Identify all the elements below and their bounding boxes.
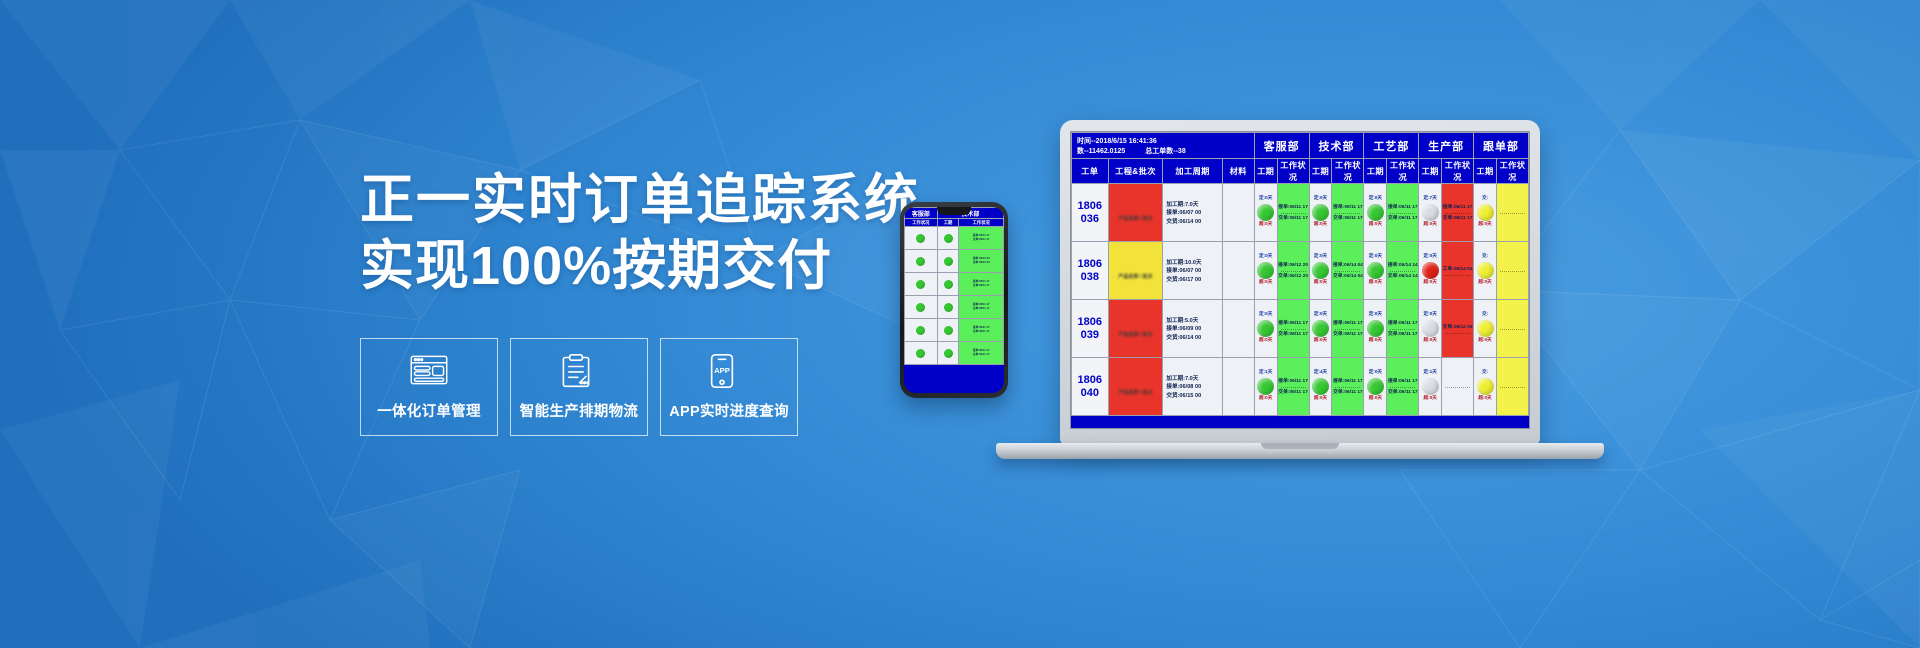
duration-cell-工艺部: 定:0天超:0天: [1364, 184, 1387, 242]
col-header-跟单部-工作状况: 工作状况: [1496, 159, 1528, 184]
status-line-2: 交单:06/11 17: [1442, 215, 1473, 223]
duration-cell-生产部: 定:0天超:0天: [1419, 300, 1442, 358]
duration-left: 定:0天: [1310, 195, 1332, 204]
cycle-text: 加工期:10.0天: [1166, 259, 1219, 268]
status-line-2: 交单:06/14 14: [1387, 273, 1418, 281]
col-header-生产部-工期: 工期: [1419, 159, 1442, 184]
duration-over: 超:0天: [1364, 395, 1386, 404]
phone-col-header-1: 工期: [937, 219, 959, 227]
duration-left: 定:0天: [1364, 369, 1386, 378]
duration-over: 超:0天: [1255, 337, 1277, 346]
status-indicator: [944, 349, 953, 358]
status-line-2: 交单:06/11 17: [1387, 331, 1418, 339]
headline-line-2: 实现100%按期交付: [360, 234, 920, 300]
headline-line-1: 正一实时订单追踪系统: [360, 168, 920, 234]
phone-order-table[interactable]: 客服部技术部工作状况工期工作状况接单:06/11 17交单:06/11 17接单…: [904, 207, 1004, 365]
status-indicator: [944, 234, 953, 243]
product-batch-cell[interactable]: 产品名称 / 批次: [1108, 184, 1163, 242]
duration-left: 定:0天: [1255, 195, 1277, 204]
cycle-text: 加工期:7.0天: [1166, 375, 1219, 384]
status-line-1: 接单:06/11 17: [1278, 320, 1309, 328]
phone-duration-cell: [937, 342, 959, 365]
dept-header-技术部: 技术部: [1309, 133, 1364, 159]
phone-table-row[interactable]: 接单:06/11 17交单:06/11 17: [905, 227, 1004, 250]
meta-time: 时间--2018/6/15 16:41:36: [1075, 136, 1159, 146]
work-status-cell-生产部[interactable]: [1442, 358, 1474, 416]
processing-period-cell: 加工期:7.0天接单:06/08 00交货:06/15 00: [1163, 358, 1222, 416]
status-indicator: [1367, 378, 1384, 395]
status-indicator: [1367, 204, 1384, 221]
duration-cell-客服部: 定:0天超:0天: [1254, 184, 1277, 242]
laptop-base: [996, 443, 1604, 459]
received-text: 接单:06/07 00: [1166, 209, 1219, 218]
laptop-lid: 时间--2018/6/15 16:41:36数--11462.0125总工单数-…: [1060, 120, 1540, 444]
phone-table-row[interactable]: 接单:06/11 17交单:06/11 17: [905, 319, 1004, 342]
status-indicator: [1477, 320, 1494, 337]
phone-screen[interactable]: 客服部技术部工作状况工期工作状况接单:06/11 17交单:06/11 17接单…: [904, 207, 1004, 393]
work-status-cell-客服部[interactable]: 接单:06/11 17交单:06/11 17: [1277, 358, 1309, 416]
status-line-2: 交单:06/11 17: [1387, 389, 1418, 397]
phone-work-status-cell[interactable]: 接单:06/11 17交单:06/11 17: [959, 273, 1004, 296]
status-indicator: [944, 280, 953, 289]
duration-cell-工艺部: 定:0天超:0天: [1364, 242, 1387, 300]
duration-over: 超:0天: [1364, 337, 1386, 346]
status-line-2: 交单:06/14 04: [1332, 273, 1363, 281]
phone-body: 客服部技术部工作状况工期工作状况接单:06/11 17交单:06/11 17接单…: [900, 202, 1008, 398]
duration-over: 超:0天: [1310, 337, 1332, 346]
product-batch-text: 产品名称 / 批次: [1109, 318, 1163, 340]
status-line-2: 交单:06/11 17: [959, 238, 1003, 242]
phone-work-status-cell[interactable]: 接单:06/11 17交单:06/11 17: [959, 296, 1004, 319]
status-indicator: [1312, 204, 1329, 221]
status-indicator: [916, 234, 925, 243]
work-status-cell-工艺部[interactable]: 接单:06/14 14交单:06/14 14: [1387, 242, 1419, 300]
cycle-text: 加工期:7.0天: [1166, 201, 1219, 210]
status-line-2: 交单:06/11 17: [1387, 215, 1418, 223]
status-indicator: [916, 303, 925, 312]
work-status-cell-生产部[interactable]: 接单:06/11 17交单:06/11 17: [1442, 184, 1474, 242]
duration-left: 定:0天: [1310, 253, 1332, 262]
duration-left: 定:0天: [1255, 311, 1277, 320]
status-indicator: [1367, 320, 1384, 337]
meta-count: 数--11462.0125: [1075, 146, 1127, 156]
order-number[interactable]: 1806039: [1072, 300, 1109, 358]
phone-duration-cell: [937, 227, 959, 250]
duration-over: 超:0天: [1474, 395, 1496, 404]
status-line-2: 交单:06/11 17: [1332, 331, 1363, 339]
duration-over: 超:0天: [1255, 221, 1277, 230]
phone-status-dot-cell: [905, 342, 938, 365]
duration-over: 超:0天: [1419, 395, 1441, 404]
status-line-1: 接单:06/12 20: [1278, 262, 1309, 270]
product-batch-text: 产品名称 / 批次: [1109, 260, 1163, 282]
feature-list: 一体化订单管理 智能生产排期物流: [360, 338, 920, 436]
product-batch-text: 产品名称 / 批次: [1109, 202, 1163, 224]
work-status-cell-技术部[interactable]: 接单:06/11 17交单:06/11 17: [1332, 184, 1364, 242]
phone-work-status-cell[interactable]: 接单:06/11 17交单:06/11 17: [959, 227, 1004, 250]
status-indicator: [1312, 262, 1329, 279]
feature-card-smart-scheduling[interactable]: 智能生产排期物流: [510, 338, 648, 436]
order-number-bottom: 036: [1072, 213, 1108, 226]
duration-cell-跟单部: 交:超:0天: [1474, 300, 1497, 358]
table-row[interactable]: 1806039产品名称 / 批次加工期:5.0天接单:06/09 00交货:06…: [1072, 300, 1529, 358]
duration-left: 定:0天: [1364, 311, 1386, 320]
col-header-客服部-工作状况: 工作状况: [1277, 159, 1309, 184]
status-indicator: [916, 257, 925, 266]
phone-notch: [937, 207, 971, 215]
processing-period-cell: 加工期:5.0天接单:06/09 00交货:06/14 00: [1163, 300, 1222, 358]
order-number[interactable]: 1806040: [1072, 358, 1109, 416]
duration-cell-工艺部: 定:0天超:0天: [1364, 300, 1387, 358]
duration-over: 超:0天: [1474, 337, 1496, 346]
table-row[interactable]: 1806040产品名称 / 批次加工期:7.0天接单:06/08 00交货:06…: [1072, 358, 1529, 416]
feature-card-order-management[interactable]: 一体化订单管理: [360, 338, 498, 436]
duration-over: 超:0天: [1364, 221, 1386, 230]
status-line-2: 交单:06/11 17: [959, 330, 1003, 334]
duration-cell-技术部: 定:0天超:0天: [1309, 242, 1332, 300]
status-line-1: 接单:06/14 14: [1387, 262, 1418, 270]
order-number-top: 1806: [1072, 374, 1108, 387]
status-line-1: 接单:06/11 17: [1387, 378, 1418, 386]
delivery-text: 交货:06/14 00: [1166, 334, 1219, 343]
phone-status-dot-cell: [905, 250, 938, 273]
status-indicator: [1422, 262, 1439, 279]
feature-card-app-tracking[interactable]: APP APP实时进度查询: [660, 338, 798, 436]
product-batch-cell[interactable]: 产品名称 / 批次: [1108, 242, 1163, 300]
duration-cell-客服部: 定:1天超:0天: [1254, 358, 1277, 416]
duration-over: 超:0天: [1255, 395, 1277, 404]
delivery-text: 交货:06/14 00: [1166, 218, 1219, 227]
status-indicator: [1257, 262, 1274, 279]
phone-duration-cell: [937, 273, 959, 296]
table-row[interactable]: 1806038产品名称 / 批次加工期:10.0天接单:06/07 00交货:0…: [1072, 242, 1529, 300]
phone-status-dot-cell: [905, 296, 938, 319]
work-status-cell-跟单部[interactable]: [1496, 358, 1528, 416]
order-number-bottom: 038: [1072, 271, 1108, 284]
duration-left: 定:7天: [1419, 195, 1441, 204]
duration-left: 定:0天: [1255, 253, 1277, 262]
status-line-1: 接单:06/11 17: [1387, 204, 1418, 212]
duration-left: 定:1天: [1255, 369, 1277, 378]
delivery-text: 交货:06/17 00: [1166, 276, 1219, 285]
order-number-top: 1806: [1072, 258, 1108, 271]
duration-cell-工艺部: 定:0天超:0天: [1364, 358, 1387, 416]
status-indicator: [944, 326, 953, 335]
col-header-工程&批次: 工程&批次: [1108, 159, 1163, 184]
duration-over: 超:0天: [1474, 221, 1496, 230]
dept-header-客服部: 客服部: [1254, 133, 1309, 159]
phone-duration-cell: [937, 250, 959, 273]
processing-period-cell: 加工期:10.0天接单:06/07 00交货:06/17 00: [1163, 242, 1222, 300]
clipboard-checklist-icon: [559, 353, 599, 391]
phone-col-header-0: 工作状况: [905, 219, 938, 227]
phone-duration-cell: [937, 319, 959, 342]
app-badge-text: APP: [714, 366, 730, 375]
status-line-1: 接单:06/11 17: [1332, 204, 1363, 212]
phone-table-row[interactable]: 接单:06/12 20交单:06/12 20: [905, 250, 1004, 273]
received-text: 接单:06/09 00: [1166, 325, 1219, 334]
col-header-加工周期: 加工周期: [1163, 159, 1222, 184]
phone-mockup: 客服部技术部工作状况工期工作状况接单:06/11 17交单:06/11 17接单…: [900, 202, 1008, 398]
dept-header-工艺部: 工艺部: [1364, 133, 1419, 159]
duration-over: 超:0天: [1255, 279, 1277, 288]
order-number[interactable]: 1806036: [1072, 184, 1109, 242]
dept-header-生产部: 生产部: [1419, 133, 1474, 159]
work-status-cell-工艺部[interactable]: 接单:06/11 17交单:06/11 17: [1387, 358, 1419, 416]
status-line-1: 接单:06/14 04: [1332, 262, 1363, 270]
product-batch-cell[interactable]: 产品名称 / 批次: [1108, 358, 1163, 416]
duration-left: 交:: [1474, 195, 1496, 204]
received-text: 接单:06/07 00: [1166, 267, 1219, 276]
col-header-技术部-工期: 工期: [1309, 159, 1332, 184]
status-indicator: [1477, 262, 1494, 279]
work-status-cell-跟单部[interactable]: [1496, 184, 1528, 242]
work-status-cell-生产部[interactable]: 工单:06/14 04: [1442, 242, 1474, 300]
status-line-1: 接单:06/11 17: [1442, 204, 1473, 212]
order-tracking-table[interactable]: 时间--2018/6/15 16:41:36数--11462.0125总工单数-…: [1071, 132, 1529, 416]
duration-cell-生产部: 定:1天超:0天: [1419, 358, 1442, 416]
status-line-2: 交单:06/12 20: [959, 261, 1003, 265]
phone-table-row[interactable]: 接单:06/11 17交单:06/11 17: [905, 342, 1004, 365]
work-status-cell-客服部[interactable]: 接单:06/12 20交单:06/12 20: [1277, 242, 1309, 300]
mobile-app-icon: APP: [709, 353, 749, 391]
duration-cell-跟单部: 交:超:0天: [1474, 242, 1497, 300]
duration-over: 超:0天: [1419, 337, 1441, 346]
device-mockups: 客服部技术部工作状况工期工作状况接单:06/11 17交单:06/11 17接单…: [900, 120, 1660, 540]
status-line-1: 接单:06/11 17: [1387, 320, 1418, 328]
phone-dept-header-0: 客服部: [905, 208, 938, 219]
order-number-bottom: 040: [1072, 387, 1108, 400]
phone-duration-cell: [937, 296, 959, 319]
material-cell: [1222, 242, 1254, 300]
duration-cell-生产部: 定:0天超:0天: [1419, 242, 1442, 300]
duration-left: 交:: [1474, 253, 1496, 262]
duration-over: 超:0天: [1310, 395, 1332, 404]
status-indicator: [944, 303, 953, 312]
status-indicator: [916, 326, 925, 335]
work-status-cell-技术部[interactable]: 接单:06/11 17交单:06/11 17: [1332, 358, 1364, 416]
status-indicator: [1367, 262, 1384, 279]
duration-cell-生产部: 定:7天超:0天: [1419, 184, 1442, 242]
status-line-2: 交单:06/11 17: [1278, 331, 1309, 339]
duration-left: 交:: [1474, 369, 1496, 378]
col-header-客服部-工期: 工期: [1254, 159, 1277, 184]
status-line-2: 交单:06/11 17: [1278, 215, 1309, 223]
work-status-cell-工艺部[interactable]: 接单:06/11 17交单:06/11 17: [1387, 300, 1419, 358]
duration-over: 超:0天: [1419, 221, 1441, 230]
phone-col-header-2: 工作状况: [959, 219, 1004, 227]
col-header-工艺部-工期: 工期: [1364, 159, 1387, 184]
status-line-2: 交单:06/11 17: [959, 307, 1003, 311]
status-indicator: [916, 280, 925, 289]
duration-left: 定:0天: [1419, 311, 1441, 320]
status-indicator: [1257, 320, 1274, 337]
status-indicator: [1257, 204, 1274, 221]
phone-work-status-cell[interactable]: 接单:06/11 17交单:06/11 17: [959, 319, 1004, 342]
dept-header-跟单部: 跟单部: [1474, 133, 1529, 159]
status-line-2: 交单:06/11 17: [1332, 215, 1363, 223]
col-header-生产部-工作状况: 工作状况: [1442, 159, 1474, 184]
laptop-screen[interactable]: 时间--2018/6/15 16:41:36数--11462.0125总工单数-…: [1070, 131, 1530, 429]
laptop-mockup: 时间--2018/6/15 16:41:36数--11462.0125总工单数-…: [1060, 120, 1604, 459]
duration-over: 超:0天: [1364, 279, 1386, 288]
duration-over: 超:0天: [1310, 279, 1332, 288]
duration-over: 超:0天: [1310, 221, 1332, 230]
status-indicator: [1257, 378, 1274, 395]
work-status-cell-跟单部[interactable]: [1496, 300, 1528, 358]
phone-status-dot-cell: [905, 273, 938, 296]
status-line-1: 接单:06/11 17: [1278, 204, 1309, 212]
status-line-2: 交单:06/11 17: [959, 353, 1003, 357]
status-line-1: 接单:06/11 17: [1332, 320, 1363, 328]
work-status-cell-生产部[interactable]: 交单:06/12 09: [1442, 300, 1474, 358]
col-header-技术部-工作状况: 工作状况: [1332, 159, 1364, 184]
status-indicator: [1312, 320, 1329, 337]
phone-work-status-cell[interactable]: 接单:06/12 20交单:06/12 20: [959, 250, 1004, 273]
page-title: 正一实时订单追踪系统 实现100%按期交付: [360, 168, 920, 300]
material-cell: [1222, 358, 1254, 416]
duration-cell-技术部: 定:0天超:0天: [1309, 300, 1332, 358]
product-batch-cell[interactable]: 产品名称 / 批次: [1108, 300, 1163, 358]
work-status-cell-客服部[interactable]: 接单:06/11 17交单:06/11 17: [1277, 300, 1309, 358]
work-status-cell-技术部[interactable]: 接单:06/11 17交单:06/11 17: [1332, 300, 1364, 358]
work-status-cell-客服部[interactable]: 接单:06/11 17交单:06/11 17: [1277, 184, 1309, 242]
hero-copy: 正一实时订单追踪系统 实现100%按期交付 一体化订单管理: [360, 168, 920, 436]
work-status-cell-工艺部[interactable]: 接单:06/11 17交单:06/11 17: [1387, 184, 1419, 242]
material-cell: [1222, 184, 1254, 242]
col-header-跟单部-工期: 工期: [1474, 159, 1497, 184]
status-indicator: [1422, 378, 1439, 395]
status-line-1: 工单:06/14 04: [1442, 266, 1473, 274]
processing-period-cell: 加工期:7.0天接单:06/07 00交货:06/14 00: [1163, 184, 1222, 242]
order-number-bottom: 039: [1072, 329, 1108, 342]
duration-over: 超:0天: [1419, 279, 1441, 288]
status-indicator: [1312, 378, 1329, 395]
status-line-1: 交单:06/12 09: [1442, 324, 1473, 332]
laptop-base-notch: [1261, 443, 1339, 449]
phone-table-row[interactable]: 接单:06/11 17交单:06/11 17: [905, 273, 1004, 296]
phone-work-status-cell[interactable]: 接单:06/11 17交单:06/11 17: [959, 342, 1004, 365]
duration-left: 定:1天: [1419, 369, 1441, 378]
duration-cell-跟单部: 交:超:0天: [1474, 358, 1497, 416]
duration-over: 超:0天: [1474, 279, 1496, 288]
feature-label: 一体化订单管理: [377, 400, 481, 421]
status-indicator: [944, 257, 953, 266]
status-line-1: 接单:06/11 17: [1332, 378, 1363, 386]
duration-left: 定:0天: [1364, 195, 1386, 204]
work-status-cell-跟单部[interactable]: [1496, 242, 1528, 300]
status-line-2: 交单:06/11 17: [1332, 389, 1363, 397]
status-line-2: 交单:06/11 17: [1278, 389, 1309, 397]
screen-meta: 时间--2018/6/15 16:41:36数--11462.0125总工单数-…: [1072, 133, 1255, 159]
status-indicator: [1422, 320, 1439, 337]
work-status-cell-技术部[interactable]: 接单:06/14 04交单:06/14 04: [1332, 242, 1364, 300]
delivery-text: 交货:06/15 00: [1166, 392, 1219, 401]
status-line-1: 接单:06/11 17: [1278, 378, 1309, 386]
duration-left: 定:0天: [1419, 253, 1441, 262]
duration-left: 交:: [1474, 311, 1496, 320]
phone-status-dot-cell: [905, 319, 938, 342]
received-text: 接单:06/08 00: [1166, 383, 1219, 392]
cycle-text: 加工期:5.0天: [1166, 317, 1219, 326]
window-layout-icon: [409, 353, 449, 391]
col-header-工艺部-工作状况: 工作状况: [1387, 159, 1419, 184]
duration-left: 定:0天: [1364, 253, 1386, 262]
duration-left: 定:4天: [1310, 369, 1332, 378]
col-header-工单: 工单: [1072, 159, 1109, 184]
status-indicator: [916, 349, 925, 358]
duration-left: 定:0天: [1310, 311, 1332, 320]
duration-cell-技术部: 定:0天超:0天: [1309, 184, 1332, 242]
meta-total: 总工单数--38: [1143, 146, 1187, 156]
status-indicator: [1477, 378, 1494, 395]
order-number[interactable]: 1806038: [1072, 242, 1109, 300]
duration-cell-技术部: 定:4天超:0天: [1309, 358, 1332, 416]
feature-label: 智能生产排期物流: [520, 400, 638, 421]
duration-cell-跟单部: 交:超:0天: [1474, 184, 1497, 242]
status-line-2: 交单:06/12 20: [1278, 273, 1309, 281]
phone-table-row[interactable]: 接单:06/11 17交单:06/11 17: [905, 296, 1004, 319]
material-cell: [1222, 300, 1254, 358]
product-batch-text: 产品名称 / 批次: [1109, 376, 1163, 398]
order-number-top: 1806: [1072, 200, 1108, 213]
table-row[interactable]: 1806036产品名称 / 批次加工期:7.0天接单:06/07 00交货:06…: [1072, 184, 1529, 242]
phone-status-dot-cell: [905, 227, 938, 250]
feature-label: APP实时进度查询: [669, 400, 789, 421]
status-indicator: [1477, 204, 1494, 221]
status-indicator: [1422, 204, 1439, 221]
col-header-材料: 材料: [1222, 159, 1254, 184]
duration-cell-客服部: 定:0天超:0天: [1254, 300, 1277, 358]
order-number-top: 1806: [1072, 316, 1108, 329]
status-line-2: 交单:06/11 17: [959, 284, 1003, 288]
duration-cell-客服部: 定:0天超:0天: [1254, 242, 1277, 300]
